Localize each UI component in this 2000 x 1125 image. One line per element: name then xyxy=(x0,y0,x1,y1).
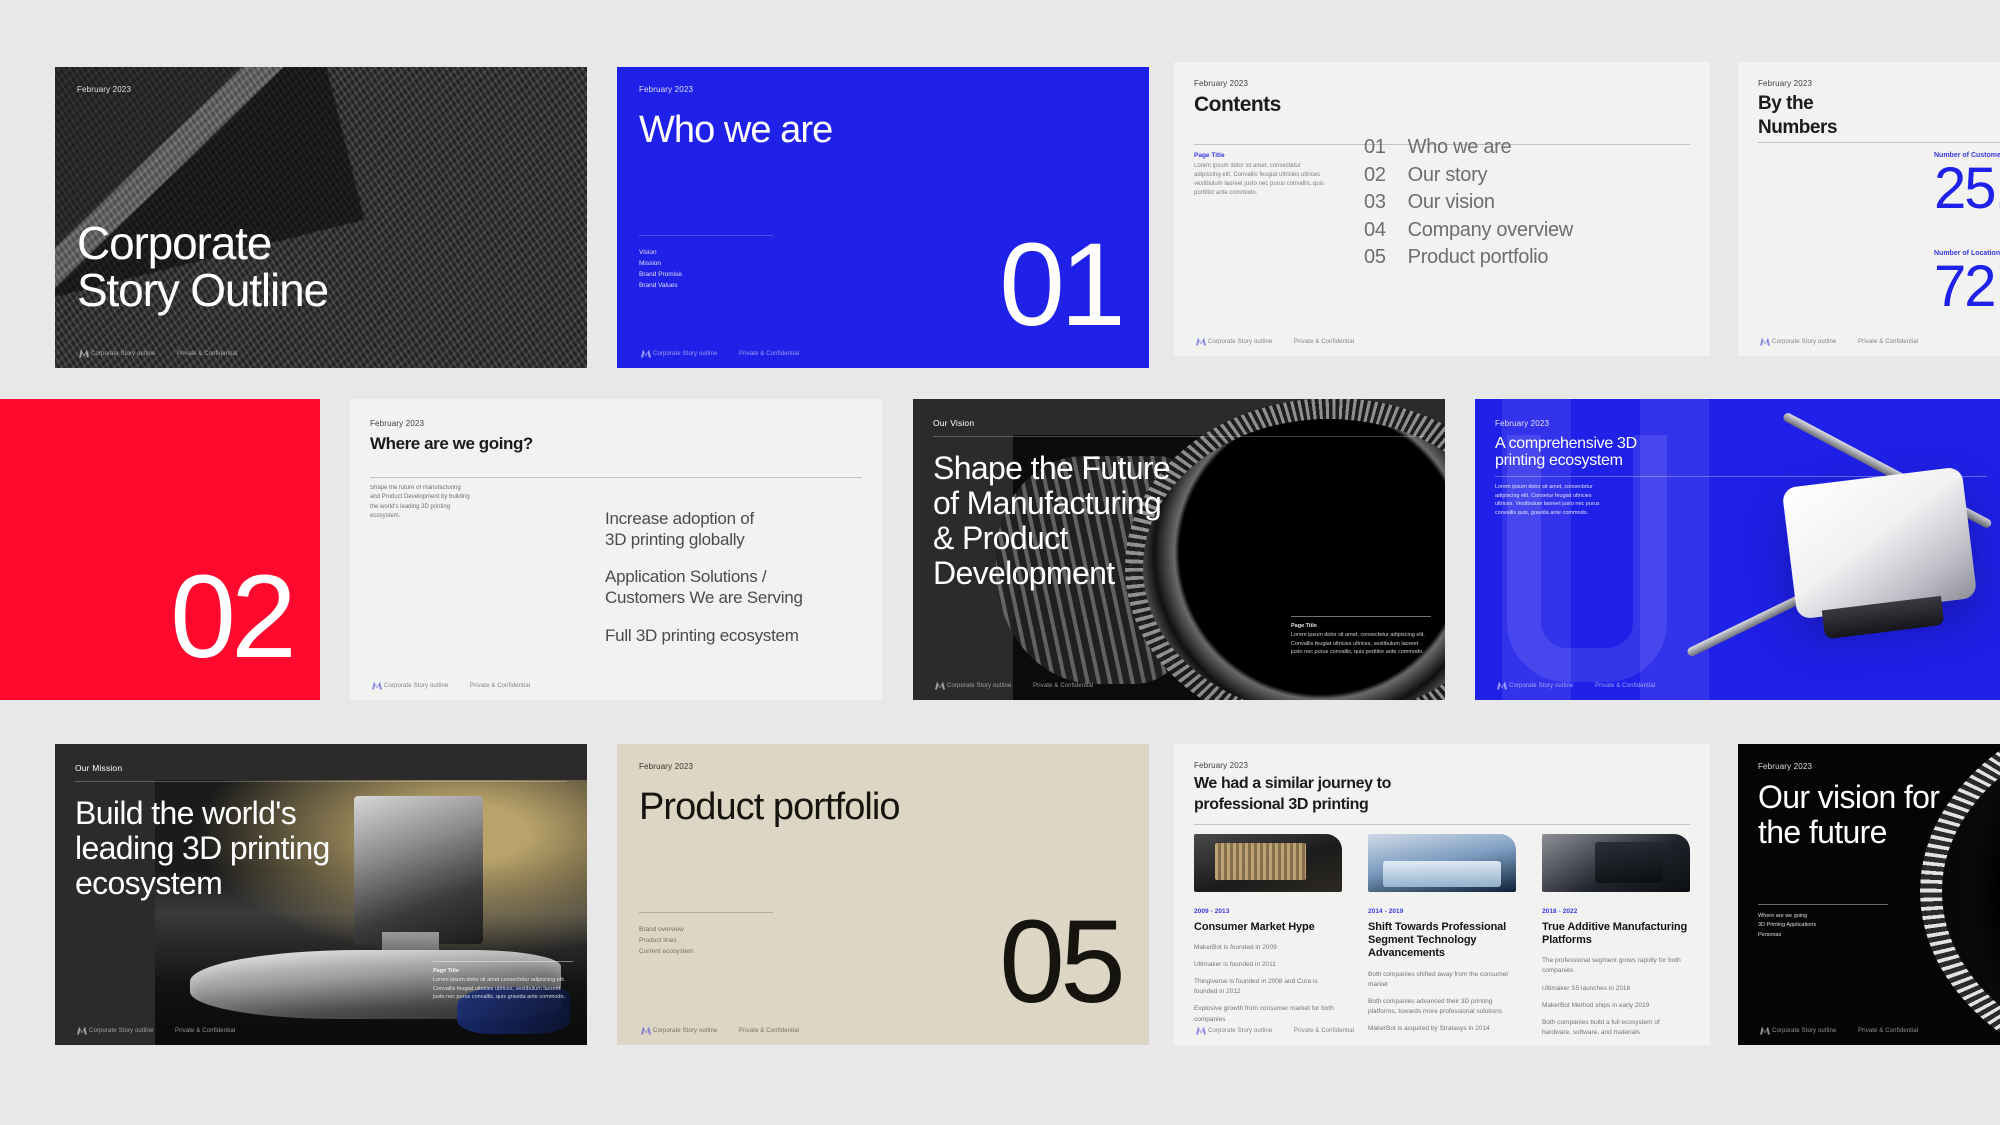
contents-note: Page Title Lorem ipsum dolor sit amet, c… xyxy=(1194,152,1328,198)
divider xyxy=(639,235,773,236)
eyebrow-date: February 2023 xyxy=(77,85,131,94)
eyebrow-date: February 2023 xyxy=(1194,79,1248,88)
footer-doc-label: Corporate Story outline xyxy=(384,683,470,689)
slide-footer: Corporate Story outline Private & Confid… xyxy=(1475,680,2000,691)
who-we-are-title: Who we are xyxy=(639,111,832,150)
divider xyxy=(370,477,862,478)
contents-item-number: 03 xyxy=(1364,189,1386,217)
footer-doc-label: Corporate Story outline xyxy=(1509,683,1595,689)
footer-doc-label: Corporate Story outline xyxy=(89,1028,175,1034)
slide-vision-for-the-future[interactable]: February 2023 Our vision for the future … xyxy=(1738,744,2000,1045)
contents-list: 01Who we are02Our story03Our vision04Com… xyxy=(1364,134,1573,272)
slide-by-the-numbers[interactable]: February 2023 By the Numbers Number of C… xyxy=(1738,62,2000,356)
contents-item[interactable]: 01Who we are xyxy=(1364,134,1573,162)
contents-item-label: Our vision xyxy=(1408,189,1495,217)
our-vision-headline: Shape the Future of Manufacturing & Prod… xyxy=(933,451,1170,591)
slide-section-two[interactable]: 02 xyxy=(0,399,320,700)
contents-item[interactable]: 02Our story xyxy=(1364,162,1573,190)
brand-logo-icon xyxy=(370,680,384,691)
ecosystem-title: A comprehensive 3D printing ecosystem xyxy=(1495,435,1637,470)
contents-item-label: Who we are xyxy=(1408,134,1512,162)
stat-locations: Number of Locations 72 xyxy=(1934,250,2000,318)
by-the-numbers-title: By the Numbers xyxy=(1758,92,1837,140)
brand-logo-icon xyxy=(77,348,91,359)
our-vision-caption: Page Title Lorem ipsum dolor sit amet, c… xyxy=(1291,623,1431,656)
journey-card-years: 2018 - 2022 xyxy=(1542,908,1690,915)
slide-footer: Corporate Story outline Private & Confid… xyxy=(1174,336,1710,347)
section-numeral: 05 xyxy=(999,915,1121,1009)
journey-card-paragraph: The professional segment grows rapidly f… xyxy=(1542,956,1690,976)
divider xyxy=(933,436,1425,437)
eyebrow-date: February 2023 xyxy=(1758,762,1812,771)
brand-logo-icon xyxy=(1758,336,1772,347)
journey-card-paragraph: Ultimaker S5 launches in 2018 xyxy=(1542,984,1690,994)
journey-card-paragraph: MakerBot Method ships in early 2019 xyxy=(1542,1001,1690,1011)
eyebrow-date: February 2023 xyxy=(639,85,693,94)
slide-our-vision[interactable]: Our Vision Shape the Future of Manufactu… xyxy=(913,399,1445,700)
product-portfolio-title: Product portfolio xyxy=(639,788,900,827)
brand-logo-icon xyxy=(1194,336,1208,347)
divider xyxy=(1194,824,1690,825)
divider xyxy=(1758,142,2000,143)
slide-footer: Corporate Story outline Private & Confid… xyxy=(617,348,1149,359)
contents-item-number: 04 xyxy=(1364,217,1386,245)
journey-card-paragraph: MakerBot is founded in 2009 xyxy=(1194,943,1342,953)
brand-logo-icon xyxy=(639,348,653,359)
journey-card-image xyxy=(1194,834,1342,892)
journey-card-paragraph: Both companies advanced their 3D printin… xyxy=(1368,997,1516,1017)
contents-note-title: Page Title xyxy=(1194,152,1328,159)
where-going-points: Increase adoption of 3D printing globall… xyxy=(605,509,862,647)
footer-doc-label: Corporate Story outline xyxy=(91,351,177,357)
journey-card-paragraph: Thingiverse is founded in 2008 and Cura … xyxy=(1194,977,1342,997)
slide-comprehensive-ecosystem[interactable]: February 2023 A comprehensive 3D printin… xyxy=(1475,399,2000,700)
eyebrow-date: February 2023 xyxy=(1758,79,1812,88)
where-going-title: Where are we going? xyxy=(370,435,533,452)
slide-corporate-story-outline[interactable]: February 2023 Corporate Story Outline Co… xyxy=(55,67,587,368)
where-going-body: Shape the future of manufacturing and Pr… xyxy=(370,484,470,521)
footer-confidential-label: Private & Confidential xyxy=(177,351,237,357)
slide-product-portfolio[interactable]: February 2023 Product portfolio Brand ov… xyxy=(617,744,1149,1045)
stat-customers-value: 25,867 xyxy=(1934,159,2000,220)
brand-logo-icon xyxy=(1194,1025,1208,1036)
footer-confidential-label: Private & Confidential xyxy=(1294,1028,1354,1034)
slide-footer: Corporate Story outline Private & Confid… xyxy=(55,348,587,359)
contents-item-number: 05 xyxy=(1364,244,1386,272)
footer-confidential-label: Private & Confidential xyxy=(1595,683,1655,689)
eyebrow-date: February 2023 xyxy=(639,762,693,771)
slide-footer: Corporate Story outline Private & Confid… xyxy=(350,680,882,691)
stat-customers: Number of Customers 25,867 xyxy=(1934,152,2000,220)
caption-divider xyxy=(1291,616,1431,617)
brand-logo-icon xyxy=(75,1025,89,1036)
brand-logo-icon xyxy=(639,1025,653,1036)
contents-item[interactable]: 04Company overview xyxy=(1364,217,1573,245)
footer-doc-label: Corporate Story outline xyxy=(653,1028,739,1034)
contents-note-body: Lorem ipsum dolor sit amet, consectetur … xyxy=(1194,162,1328,198)
footer-doc-label: Corporate Story outline xyxy=(1772,1028,1858,1034)
where-going-point-3: Full 3D printing ecosystem xyxy=(605,626,862,647)
journey-card-paragraph: Both companies shifted away from the con… xyxy=(1368,970,1516,990)
section-numeral: 01 xyxy=(999,238,1121,332)
ecosystem-body: Lorem ipsum dolor sit amet, consectetur … xyxy=(1495,483,1605,517)
slide-similar-journey[interactable]: February 2023 We had a similar journey t… xyxy=(1174,744,1710,1045)
slide-footer: Corporate Story outline Private & Confid… xyxy=(55,1025,587,1036)
footer-confidential-label: Private & Confidential xyxy=(1033,683,1093,689)
slide-footer: Corporate Story outline Private & Confid… xyxy=(1738,1025,2000,1036)
photo-u-shape xyxy=(1507,435,1667,682)
journey-card-paragraph: Explosive growth from consumer market fo… xyxy=(1194,1004,1342,1024)
footer-doc-label: Corporate Story outline xyxy=(1772,339,1858,345)
caption-body: Lorem ipsum dolor sit amet consectetur a… xyxy=(433,976,573,1001)
caption-body: Lorem ipsum dolor sit amet, consectetur … xyxy=(1291,631,1431,656)
slide-footer: Corporate Story outline Private & Confid… xyxy=(1174,1025,1710,1036)
our-mission-caption: Page Title Lorem ipsum dolor sit amet co… xyxy=(433,968,573,1001)
divider xyxy=(75,781,567,782)
contents-item-number: 02 xyxy=(1364,162,1386,190)
divider xyxy=(639,912,773,913)
stat-locations-value: 72 xyxy=(1934,257,2000,318)
footer-confidential-label: Private & Confidential xyxy=(1294,339,1354,345)
footer-confidential-label: Private & Confidential xyxy=(1858,1028,1918,1034)
slide-contents[interactable]: February 2023 Contents Page Title Lorem … xyxy=(1174,62,1710,356)
our-mission-headline: Build the world's leading 3D printing ec… xyxy=(75,796,330,901)
brand-logo-icon xyxy=(1758,1025,1772,1036)
contents-item-label: Product portfolio xyxy=(1408,244,1549,272)
where-going-point-1: Increase adoption of 3D printing globall… xyxy=(605,509,862,550)
slide-deck-board: February 2023 Corporate Story Outline Co… xyxy=(0,0,2000,1125)
slide-who-we-are[interactable]: February 2023 Who we are Vision Mission … xyxy=(617,67,1149,368)
journey-card-image xyxy=(1368,834,1516,892)
divider xyxy=(1495,476,1987,477)
eyebrow-section: Our Mission xyxy=(75,763,122,773)
by-the-numbers-title-line1: By the xyxy=(1758,92,1837,116)
vision-future-subtopics: Where are we going 3D Printing Applicati… xyxy=(1758,912,1816,940)
eyebrow-date: February 2023 xyxy=(1194,761,1248,770)
contents-item[interactable]: 03Our vision xyxy=(1364,189,1573,217)
caption-title: Page Title xyxy=(433,968,573,974)
contents-title: Contents xyxy=(1194,94,1281,115)
footer-doc-label: Corporate Story outline xyxy=(947,683,1033,689)
footer-doc-label: Corporate Story outline xyxy=(1208,339,1294,345)
contents-item[interactable]: 05Product portfolio xyxy=(1364,244,1573,272)
slide-footer: Corporate Story outline Private & Confid… xyxy=(1738,336,2000,347)
journey-card-body: MakerBot is founded in 2009Ultimaker is … xyxy=(1194,943,1342,1024)
journey-card[interactable]: 2018 - 2022True Additive Manufacturing P… xyxy=(1542,834,1690,1045)
eyebrow-section: Our Vision xyxy=(933,418,974,428)
footer-doc-label: Corporate Story outline xyxy=(1208,1028,1294,1034)
journey-title: We had a similar journey to professional… xyxy=(1194,774,1391,816)
cover-title-line2: Story Outline xyxy=(77,267,328,314)
photo-machine-head xyxy=(354,796,484,944)
eyebrow-date: February 2023 xyxy=(370,419,424,428)
footer-confidential-label: Private & Confidential xyxy=(739,351,799,357)
slide-footer: Corporate Story outline Private & Confid… xyxy=(617,1025,1149,1036)
journey-card[interactable]: 2009 - 2013Consumer Market HypeMakerBot … xyxy=(1194,834,1342,1045)
contents-item-number: 01 xyxy=(1364,134,1386,162)
eyebrow-date: February 2023 xyxy=(1495,419,1549,428)
footer-confidential-label: Private & Confidential xyxy=(739,1028,799,1034)
slide-our-mission[interactable]: Our Mission Build the world's leading 3D… xyxy=(55,744,587,1045)
by-the-numbers-title-line2: Numbers xyxy=(1758,116,1837,140)
slide-footer: Corporate Story outline Private & Confid… xyxy=(913,680,1445,691)
contents-item-label: Company overview xyxy=(1408,217,1573,245)
journey-card-years: 2014 - 2019 xyxy=(1368,908,1516,915)
vision-future-headline: Our vision for the future xyxy=(1758,780,1939,850)
journey-card-years: 2009 - 2013 xyxy=(1194,908,1342,915)
footer-confidential-label: Private & Confidential xyxy=(1858,339,1918,345)
footer-confidential-label: Private & Confidential xyxy=(470,683,530,689)
journey-card-list: 2009 - 2013Consumer Market HypeMakerBot … xyxy=(1194,834,1690,1045)
brand-logo-icon xyxy=(1495,680,1509,691)
journey-card-title: Consumer Market Hype xyxy=(1194,921,1342,934)
where-going-point-2: Application Solutions / Customers We are… xyxy=(605,567,862,608)
divider xyxy=(1758,904,1888,905)
photo-printhead xyxy=(1781,467,1977,620)
journey-card-title: Shift Towards Professional Segment Techn… xyxy=(1368,921,1516,961)
journey-card-paragraph: Ultimaker is founded in 2011 xyxy=(1194,960,1342,970)
product-portfolio-subtopics: Brand overview Product lines Current eco… xyxy=(639,924,694,957)
cover-title-line1: Corporate xyxy=(77,220,328,267)
footer-doc-label: Corporate Story outline xyxy=(653,351,739,357)
who-we-are-subtopics: Vision Mission Brand Promise Brand Value… xyxy=(639,247,682,291)
caption-title: Page Title xyxy=(1291,623,1431,629)
journey-card[interactable]: 2014 - 2019Shift Towards Professional Se… xyxy=(1368,834,1516,1045)
journey-card-image xyxy=(1542,834,1690,892)
footer-confidential-label: Private & Confidential xyxy=(175,1028,235,1034)
caption-divider xyxy=(433,961,573,962)
brand-logo-icon xyxy=(933,680,947,691)
cover-title: Corporate Story Outline xyxy=(77,220,328,314)
contents-item-label: Our story xyxy=(1408,162,1488,190)
slide-where-are-we-going[interactable]: February 2023 Where are we going? Shape … xyxy=(350,399,882,700)
journey-card-title: True Additive Manufacturing Platforms xyxy=(1542,921,1690,947)
section-numeral: 02 xyxy=(170,570,292,664)
